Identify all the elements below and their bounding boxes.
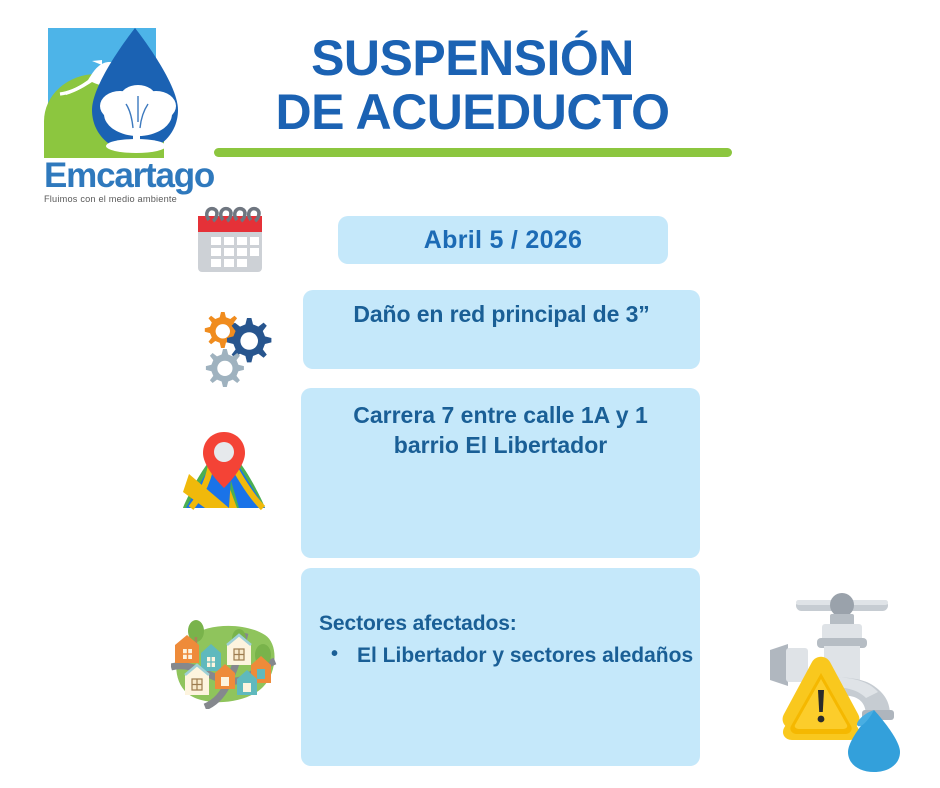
brand-name: Emcartago [44, 158, 192, 193]
date-box: Abril 5 / 2026 [338, 216, 668, 264]
list-item: El Libertador y sectores aledaños [319, 642, 700, 670]
page-title-line-1: SUSPENSIÓN [205, 32, 740, 86]
calendar-icon [191, 202, 269, 276]
sectors-box: Sectores afectados: El Libertador y sect… [301, 568, 700, 766]
water-drop-icon [86, 26, 184, 154]
sectors-list: El Libertador y sectores aledaños [319, 642, 700, 670]
page-title-line-2: DE ACUEDUCTO [205, 86, 740, 140]
village-neighborhood-icon [171, 611, 281, 709]
location-box: Carrera 7 entre calle 1A y 1 barrio El L… [301, 388, 700, 558]
faucet-warning-waterdrop-icon [762, 578, 932, 773]
company-logo: Emcartago Fluimos con el medio ambiente [44, 24, 192, 204]
cause-box: Daño en red principal de 3” [303, 290, 700, 369]
location-line-2: barrio El Libertador [301, 430, 700, 460]
brand-tagline: Fluimos con el medio ambiente [44, 194, 192, 204]
suspension-notice-poster: Emcartago Fluimos con el medio ambiente … [0, 0, 940, 788]
location-line-1: Carrera 7 entre calle 1A y 1 [301, 400, 700, 430]
cause-value: Daño en red principal de 3” [303, 290, 700, 328]
map-pin-icon [177, 422, 271, 514]
sectors-heading: Sectores afectados: [319, 612, 700, 636]
date-value: Abril 5 / 2026 [338, 216, 668, 264]
water-drop-bird-tree-logo [44, 24, 184, 154]
location-value: Carrera 7 entre calle 1A y 1 barrio El L… [301, 388, 700, 461]
gears-icon [195, 305, 277, 387]
title-divider [214, 148, 732, 157]
page-title: SUSPENSIÓN DE ACUEDUCTO [205, 32, 740, 157]
